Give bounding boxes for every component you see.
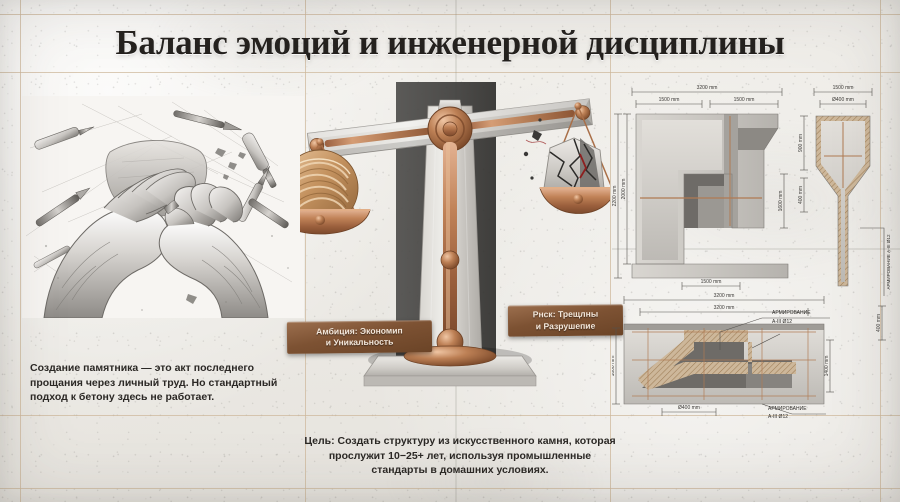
label-plan-rebar-top-2: A-III Ø12 bbox=[772, 319, 792, 325]
dim-col-side-height: 400 mm bbox=[876, 314, 882, 332]
caption-left-text: Создание памятника — это акт последнего … bbox=[30, 361, 302, 405]
dim-col-width: 1500 mm bbox=[833, 85, 854, 91]
gridline-vertical-left bbox=[20, 0, 21, 502]
dim-elev-base-width: 1500 mm bbox=[701, 279, 722, 285]
label-plan-rebar-top-1: АРМИРОВАНИЕ bbox=[772, 310, 811, 316]
label-plan-rebar-bottom-2: A-III Ø12 bbox=[768, 414, 788, 418]
plaque-risk-line1: Рнск: Трещлны bbox=[533, 309, 599, 321]
dim-plan-width-outer: 3200 mm bbox=[714, 293, 735, 299]
poster-canvas: Баланс эмоций и инженерной дисциплины bbox=[0, 0, 900, 502]
dim-col-upper-height: 900 mm bbox=[798, 134, 804, 152]
label-col-rebar: АРМИРОВАНИЕ A-III Ø12 bbox=[886, 234, 891, 290]
plaque-ambition: Амбиция: Экономип и Уникальность bbox=[287, 320, 432, 354]
dim-plan-width-inner: 3200 mm bbox=[714, 305, 735, 311]
dim-elev-left: 1500 mm bbox=[659, 97, 680, 103]
dim-elev-height-inner: 2000 mm bbox=[621, 179, 627, 200]
dim-elev-inner-depth: 1600 mm bbox=[778, 191, 784, 212]
label-plan-rebar-bottom-1: АРМИРОВАНИЕ bbox=[768, 406, 807, 412]
dim-col-diameter: Ø400 mm bbox=[832, 97, 854, 103]
dim-col-lower-height: 400 mm bbox=[798, 186, 804, 204]
technical-drawings: 3200 mm 1500 mm 1500 mm bbox=[612, 78, 900, 418]
plaque-risk-line2: и Разрушепие bbox=[536, 320, 596, 332]
page-title: Баланс эмоций и инженерной дисциплины bbox=[0, 23, 900, 63]
gridline-vertical-mid-right bbox=[610, 0, 611, 502]
pencil-sketch-hands-sculpting bbox=[22, 96, 304, 318]
gridline-horizontal-bottom bbox=[0, 488, 900, 489]
plaque-ambition-line2: и Уникальность bbox=[326, 337, 394, 349]
plaque-risk: Рнск: Трещлны и Разрушепие bbox=[508, 304, 623, 336]
dim-plan-opening: Ø400 mm bbox=[678, 405, 700, 411]
dim-elev-right: 1500 mm bbox=[734, 97, 755, 103]
dim-elev-height-outer: 2200 mm bbox=[612, 186, 618, 207]
dim-elev-total: 3200 mm bbox=[697, 85, 718, 91]
goal-statement-text: Цель: Создать структуру из искусственног… bbox=[300, 434, 620, 478]
dim-plan-height-outer: 1600 mm bbox=[612, 356, 616, 377]
balance-scale bbox=[300, 60, 610, 420]
dim-plan-height-inner: 1400 mm bbox=[824, 356, 830, 377]
